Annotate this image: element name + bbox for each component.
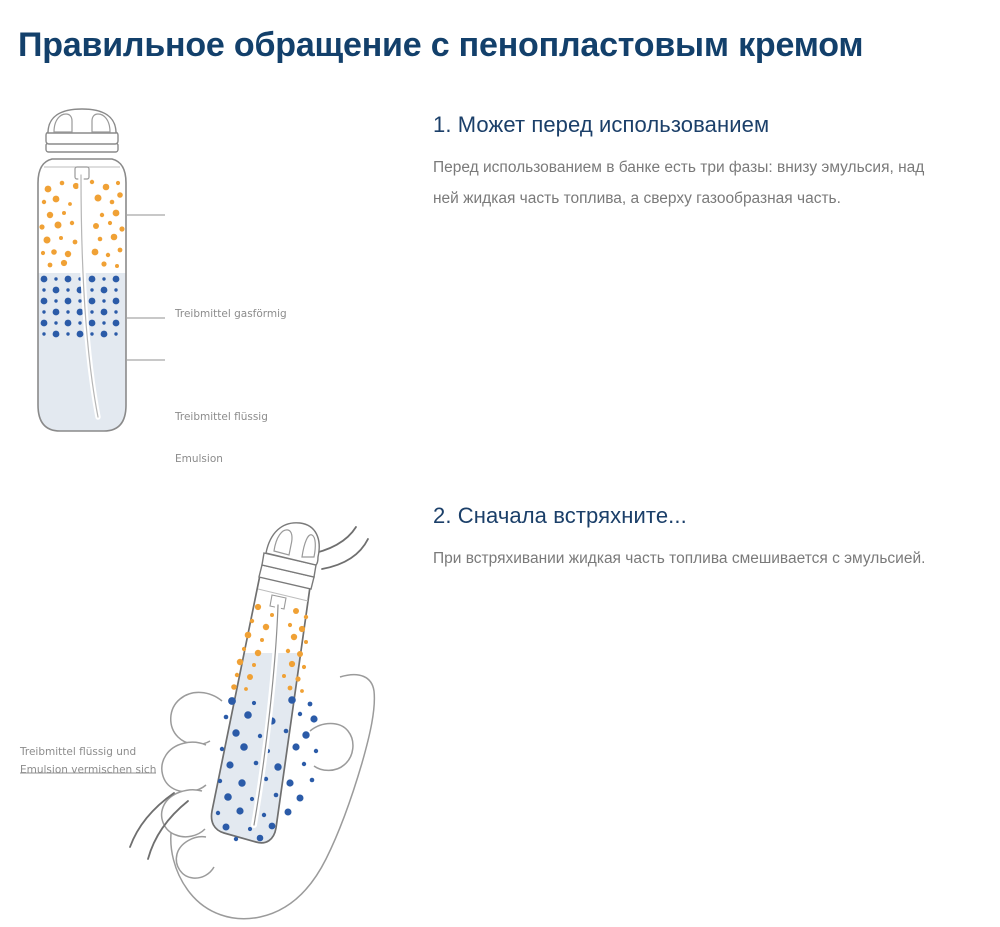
callout-emulsion-label: Emulsion [175,452,223,467]
page-root: Правильное обращение с пенопластовым кре… [0,0,1000,927]
illustration-can-at-rest: Treibmittel gasförmig Treibmittel flüssi… [20,105,420,455]
section-1: 1. Может перед использованием Перед испо… [433,112,973,214]
page-title: Правильное обращение с пенопластовым кре… [18,26,863,65]
tilted-can-cap-group [259,523,319,589]
callout-liquid-label: Treibmittel flüssig [175,410,268,425]
can-at-rest-svg [20,105,420,455]
section-1-heading: 1. Может перед использованием [433,112,973,138]
illustration-hand-shaking: Treibmittel flüssig und Emulsion vermisc… [10,495,420,925]
section-2-body: При встряхивании жидкая часть топлива см… [433,543,953,574]
callout-gas-label: Treibmittel gasförmig [175,307,287,322]
callout-mixing-label-line2: Emulsion vermischen sich [20,763,156,778]
hand-shaking-svg [10,495,420,925]
cap-collar-upper [46,132,118,144]
can-cap-group [46,109,118,152]
section-2: 2. Сначала встряхните... При встряхивани… [433,503,973,574]
section-1-body: Перед использованием в банке есть три фа… [433,152,953,214]
callout-mixing-label-line1: Treibmittel flüssig und [20,745,136,760]
section-2-heading: 2. Сначала встряхните... [433,503,973,529]
